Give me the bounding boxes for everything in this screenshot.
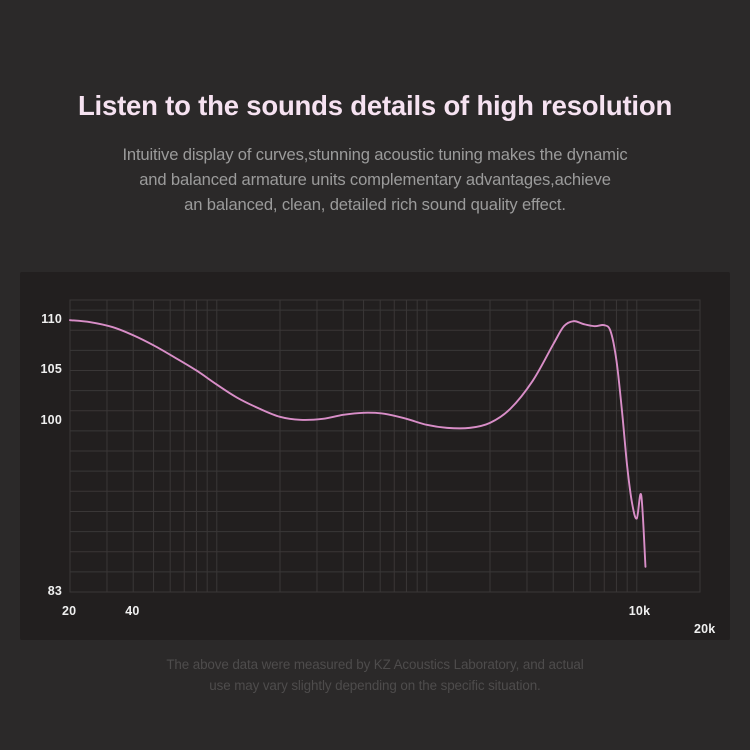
y-axis-tick-105: 105 [41,362,62,376]
disclaimer-line-1: The above data were measured by KZ Acous… [0,655,750,676]
page-root: Listen to the sounds details of high res… [0,0,750,750]
frequency-response-chart-panel: 11010510083204010k20k [20,272,730,640]
y-axis-tick-83: 83 [48,584,62,598]
measurement-disclaimer: The above data were measured by KZ Acous… [0,655,750,697]
x-axis-tick-20: 20 [62,604,76,618]
plot-area: 11010510083204010k20k [20,272,730,640]
y-axis-tick-100: 100 [41,413,62,427]
header: Listen to the sounds details of high res… [0,0,750,218]
disclaimer-line-2: use may vary slightly depending on the s… [0,676,750,697]
response-curve [70,320,645,567]
x-axis-tick-40: 40 [125,604,139,618]
page-title: Listen to the sounds details of high res… [0,0,750,121]
grid-lines [70,300,700,592]
subtitle-line-1: Intuitive display of curves,stunning aco… [36,142,714,167]
page-subtitle: Intuitive display of curves,stunning aco… [0,121,750,218]
subtitle-line-3: an balanced, clean, detailed rich sound … [36,192,714,217]
x-axis-tick-20k: 20k [694,622,715,636]
plot-border [70,300,700,592]
frequency-response-plot [20,272,730,640]
subtitle-line-2: and balanced armature units complementar… [36,167,714,192]
x-axis-tick-10k: 10k [629,604,650,618]
y-axis-tick-110: 110 [41,312,62,326]
